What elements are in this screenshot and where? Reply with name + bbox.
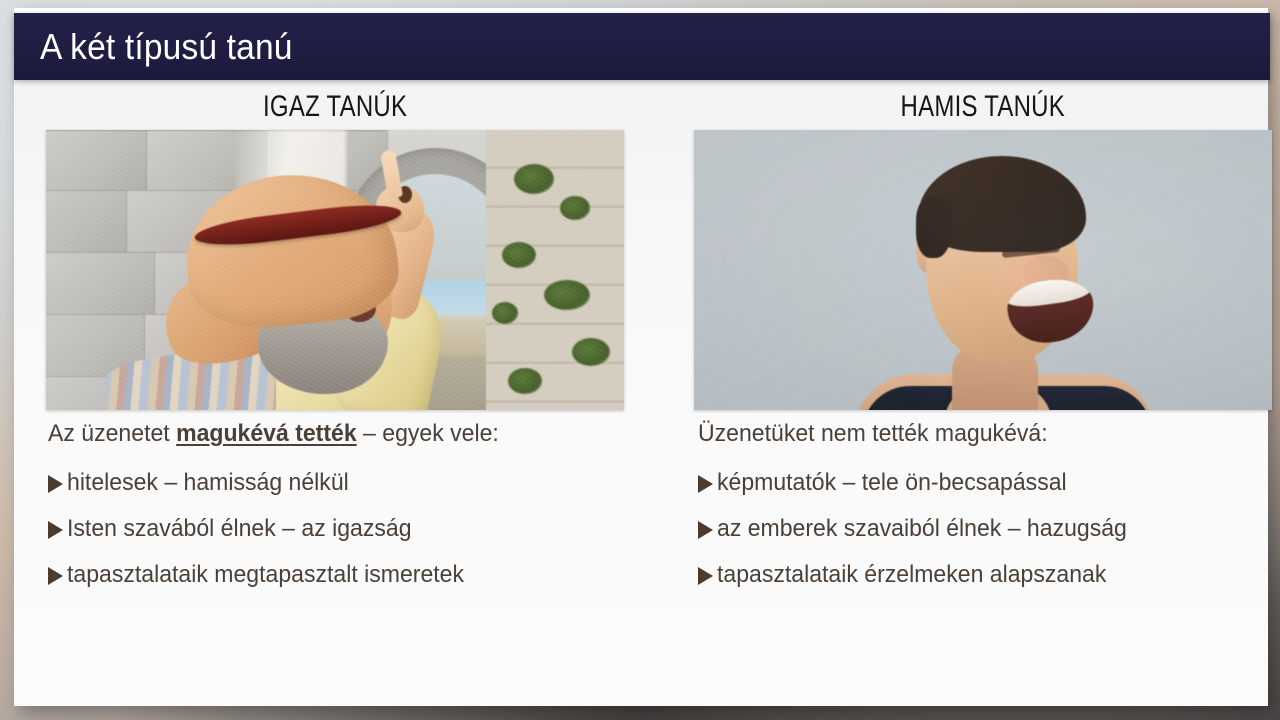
lead-line-left: Az üzenetet magukévá tették – egyek vele…	[48, 422, 624, 446]
page-title: A két típusú tanú	[40, 26, 293, 68]
lead-left-emphasis: magukévá tették	[176, 420, 357, 447]
lead-left-after: – egyek vele:	[357, 420, 499, 447]
column-heading-left-label: IGAZ TANÚK	[263, 90, 407, 124]
triangle-right-icon	[698, 521, 713, 539]
image-false-witness-photo	[694, 130, 1272, 410]
text-column-false-witnesses: Üzenetüket nem tették magukévá: képmutat…	[698, 422, 1280, 609]
hair-sideburn	[916, 196, 952, 258]
presentation-stage: IGAZ TANÚK HAMIS TANÚK	[0, 0, 1280, 720]
triangle-right-icon	[698, 475, 713, 493]
bullet-item: képmutatók – tele ön-becsapással	[698, 471, 1280, 495]
slide-title-banner: A két típusú tanú	[14, 13, 1270, 80]
bullet-item: Isten szavából élnek – az igazság	[48, 517, 648, 541]
bullet-item: tapasztalataik érzelmeken alapszanak	[698, 563, 1280, 587]
lead-line-right: Üzenetüket nem tették magukévá:	[698, 422, 1274, 446]
bullet-label: tapasztalataik érzelmeken alapszanak	[717, 563, 1106, 587]
column-heading-true-witnesses: IGAZ TANÚK	[46, 90, 624, 124]
column-heading-false-witnesses: HAMIS TANÚK	[694, 90, 1272, 124]
bullet-item: az emberek szavaiból élnek – hazugság	[698, 517, 1280, 541]
text-column-true-witnesses: Az üzenetet magukévá tették – egyek vele…	[48, 422, 648, 609]
lead-left-before: Az üzenetet	[48, 420, 176, 447]
bullet-label: hitelesek – hamisság nélkül	[67, 471, 349, 495]
stone-pier	[486, 130, 624, 410]
lead-right-before: Üzenetüket nem tették magukévá:	[698, 420, 1048, 447]
triangle-right-icon	[48, 475, 63, 493]
bullet-item: hitelesek – hamisság nélkül	[48, 471, 648, 495]
triangle-right-icon	[48, 567, 63, 585]
column-heading-right-label: HAMIS TANÚK	[901, 90, 1065, 124]
slide-sheet: IGAZ TANÚK HAMIS TANÚK	[14, 8, 1268, 706]
bullet-item: tapasztalataik megtapasztalt ismeretek	[48, 563, 648, 587]
bullet-label: az emberek szavaiból élnek – hazugság	[717, 517, 1127, 541]
triangle-right-icon	[48, 521, 63, 539]
bullet-label: tapasztalataik megtapasztalt ismeretek	[67, 563, 464, 587]
triangle-right-icon	[698, 567, 713, 585]
bullet-label: Isten szavából élnek – az igazság	[67, 517, 412, 541]
image-true-witness-painting	[46, 130, 624, 410]
bullet-label: képmutatók – tele ön-becsapással	[717, 471, 1067, 495]
